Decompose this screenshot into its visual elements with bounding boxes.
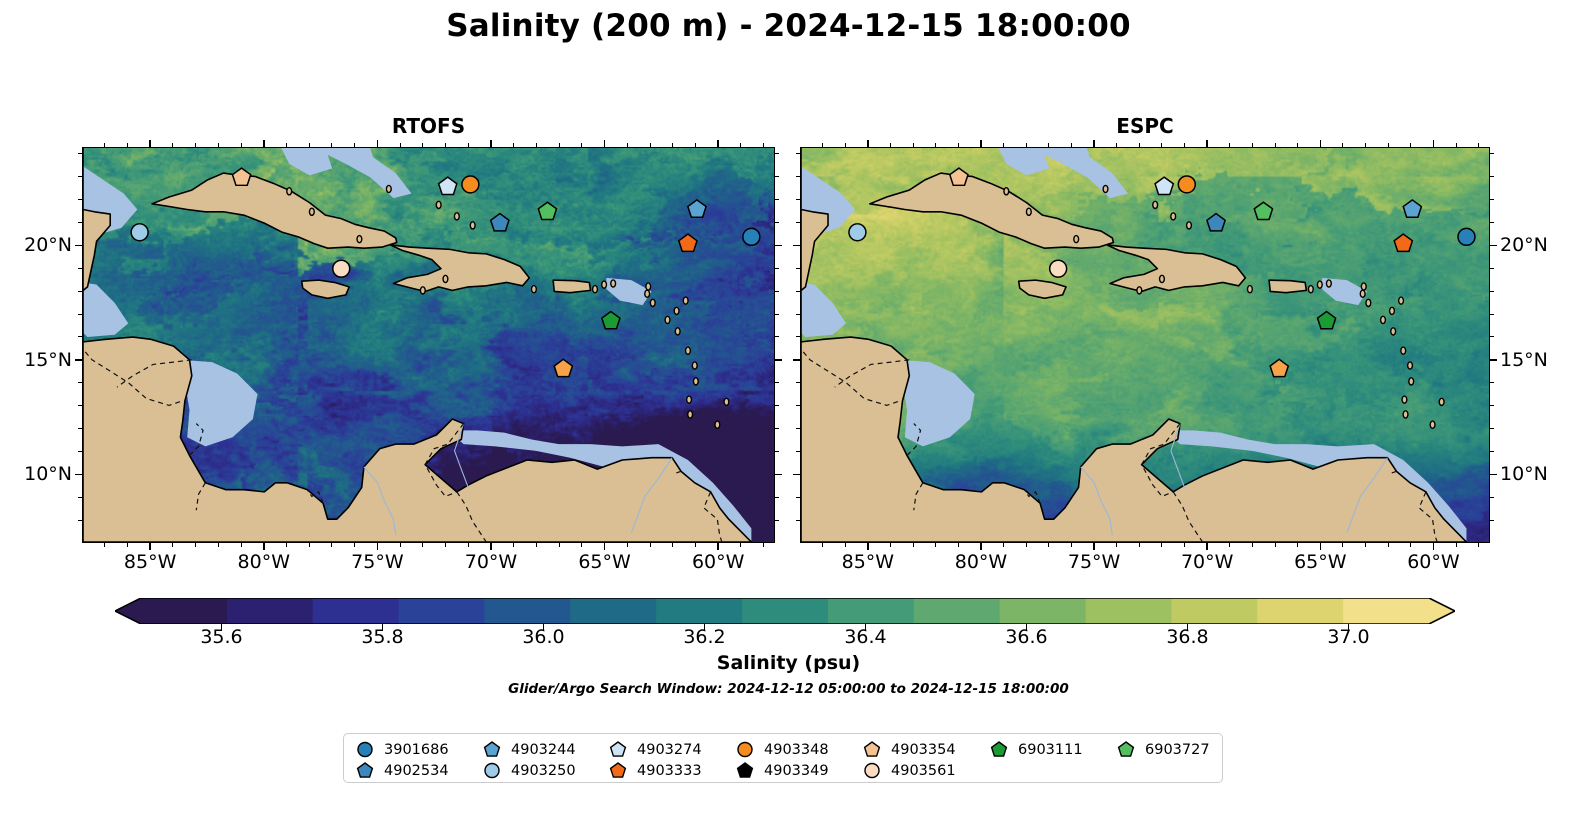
axis-tick <box>241 143 242 147</box>
colorbar-tick-label: 36.4 <box>821 626 911 648</box>
float-marker-3901686[interactable] <box>1458 228 1475 245</box>
axis-tick <box>775 222 779 223</box>
axis-tick <box>796 497 800 498</box>
legend-item-3901686[interactable]: 3901686 <box>354 739 449 760</box>
axis-tick <box>672 143 673 147</box>
axis-tick <box>867 543 869 550</box>
axis-tick <box>377 543 379 550</box>
axis-tick <box>867 140 869 147</box>
axis-tick <box>1490 153 1494 154</box>
axis-tick <box>775 245 782 247</box>
axis-tick <box>468 143 469 147</box>
axis-tick <box>1490 268 1494 269</box>
float-marker-4903250[interactable] <box>131 224 148 241</box>
axis-tick <box>775 314 779 315</box>
axis-tick <box>241 543 242 547</box>
legend-item-4903349[interactable]: 4903349 <box>734 760 829 781</box>
axis-tick <box>1048 543 1049 547</box>
map-panel-rtofs[interactable] <box>82 147 775 543</box>
legend-label: 4903250 <box>511 763 576 779</box>
axis-tick <box>1388 143 1389 147</box>
map-panel-espc[interactable] <box>800 147 1490 543</box>
axis-tick <box>958 143 959 147</box>
xtick-label: 80°W <box>219 551 309 573</box>
axis-tick <box>1093 140 1095 147</box>
xtick-label: 75°W <box>332 551 422 573</box>
axis-tick <box>354 543 355 547</box>
axis-tick <box>1365 143 1366 147</box>
axis-tick <box>775 405 779 406</box>
axis-tick <box>78 291 82 292</box>
axis-tick <box>695 543 696 547</box>
axis-tick <box>263 140 265 147</box>
axis-tick <box>1490 451 1494 452</box>
axis-tick <box>1456 543 1457 547</box>
legend-label: 6903111 <box>1018 742 1083 758</box>
axis-tick <box>695 143 696 147</box>
legend-item-4903354[interactable]: 4903354 <box>861 739 956 760</box>
axis-tick <box>1161 543 1162 547</box>
float-marker-4903561[interactable] <box>1050 260 1067 277</box>
colorbar-title: Salinity (psu) <box>0 652 1577 674</box>
float-marker-4903250[interactable] <box>849 224 866 241</box>
axis-tick <box>763 543 764 547</box>
axis-tick <box>104 143 105 147</box>
axis-tick <box>422 143 423 147</box>
axis-tick <box>1490 199 1494 200</box>
axis-tick <box>796 268 800 269</box>
xtick-label: 65°W <box>1275 551 1365 573</box>
legend-label: 4903348 <box>764 742 829 758</box>
legend-label: 4903561 <box>891 763 956 779</box>
axis-tick <box>1490 314 1494 315</box>
axis-tick <box>1026 143 1027 147</box>
float-marker-4903561[interactable] <box>333 260 350 277</box>
ytick-label-right: 10°N <box>1500 463 1570 483</box>
axis-tick <box>78 336 82 337</box>
axis-tick <box>793 245 800 247</box>
legend-marker-pentagon <box>607 760 629 781</box>
axis-tick <box>1003 543 1004 547</box>
axis-tick <box>536 543 537 547</box>
legend-label: 4903354 <box>891 742 956 758</box>
axis-tick <box>1297 543 1298 547</box>
axis-tick <box>796 314 800 315</box>
axis-tick <box>796 382 800 383</box>
axis-tick <box>604 543 606 550</box>
axis-tick <box>75 474 82 476</box>
xtick-label: 70°W <box>446 551 536 573</box>
axis-tick <box>354 143 355 147</box>
axis-tick <box>1490 336 1494 337</box>
axis-tick <box>78 382 82 383</box>
axis-tick <box>890 143 891 147</box>
colorbar[interactable] <box>115 598 1455 624</box>
axis-tick <box>104 543 105 547</box>
panel-title-rtofs: RTOFS <box>82 114 775 138</box>
axis-tick <box>309 543 310 547</box>
axis-tick <box>78 153 82 154</box>
axis-tick <box>1433 543 1435 550</box>
axis-tick <box>1206 543 1208 550</box>
axis-tick <box>1229 543 1230 547</box>
axis-tick <box>775 428 779 429</box>
axis-tick <box>1252 543 1253 547</box>
axis-tick <box>78 497 82 498</box>
axis-tick <box>78 520 82 521</box>
axis-tick <box>958 543 959 547</box>
axis-tick <box>75 245 82 247</box>
axis-tick <box>775 199 779 200</box>
axis-tick <box>796 336 800 337</box>
axis-tick <box>78 405 82 406</box>
xtick-label: 60°W <box>673 551 763 573</box>
axis-tick <box>1490 474 1497 476</box>
axis-tick <box>195 143 196 147</box>
xtick-label: 85°W <box>105 551 195 573</box>
axis-tick <box>513 543 514 547</box>
axis-tick <box>796 153 800 154</box>
axis-tick <box>775 336 779 337</box>
legend-marker-pentagon <box>607 739 629 760</box>
map-raster-espc <box>801 148 1489 542</box>
axis-tick <box>980 543 982 550</box>
axis-tick <box>490 140 492 147</box>
axis-tick <box>536 143 537 147</box>
axis-tick <box>796 291 800 292</box>
axis-tick <box>78 176 82 177</box>
axis-tick <box>935 143 936 147</box>
legend-label: 4903244 <box>511 742 576 758</box>
axis-tick <box>78 199 82 200</box>
panel-title-espc: ESPC <box>800 114 1490 138</box>
float-marker-4903348[interactable] <box>1178 176 1195 193</box>
axis-tick <box>1490 245 1497 247</box>
ytick-label-left: 15°N <box>2 349 72 369</box>
axis-tick <box>775 291 779 292</box>
legend-marker-circle <box>354 739 376 760</box>
colorbar-tick-label: 36.8 <box>1143 626 1233 648</box>
axis-tick <box>1490 428 1494 429</box>
axis-tick <box>445 543 446 547</box>
axis-tick <box>822 543 823 547</box>
colorbar-tick-label: 36.2 <box>660 626 750 648</box>
axis-tick <box>935 543 936 547</box>
axis-tick <box>845 543 846 547</box>
axis-tick <box>172 543 173 547</box>
axis-tick <box>775 153 779 154</box>
axis-tick <box>377 140 379 147</box>
figure-canvas: Salinity (200 m) - 2024-12-15 18:00:00 R… <box>0 0 1577 827</box>
axis-tick <box>775 474 782 476</box>
axis-tick <box>331 143 332 147</box>
axis-tick <box>127 543 128 547</box>
ytick-label-left: 20°N <box>2 234 72 254</box>
axis-tick <box>890 543 891 547</box>
axis-tick <box>793 359 800 361</box>
axis-tick <box>400 143 401 147</box>
xtick-label: 85°W <box>823 551 913 573</box>
axis-tick <box>1184 143 1185 147</box>
axis-tick <box>604 140 606 147</box>
legend-item-4903274[interactable]: 4903274 <box>607 739 702 760</box>
axis-tick <box>1490 291 1494 292</box>
axis-tick <box>775 520 779 521</box>
legend-item-4903244[interactable]: 4903244 <box>481 739 576 760</box>
axis-tick <box>172 143 173 147</box>
xtick-label: 80°W <box>936 551 1026 573</box>
axis-tick <box>1026 543 1027 547</box>
axis-tick <box>400 543 401 547</box>
axis-tick <box>796 451 800 452</box>
axis-tick <box>263 543 265 550</box>
colorbar-tick-label: 35.8 <box>338 626 428 648</box>
axis-tick <box>1456 143 1457 147</box>
axis-tick <box>650 543 651 547</box>
axis-tick <box>775 359 782 361</box>
axis-tick <box>490 543 492 550</box>
axis-tick <box>1490 520 1494 521</box>
axis-tick <box>149 140 151 147</box>
marker-legend[interactable]: 3901686490324449032744903348490335469031… <box>343 733 1223 783</box>
axis-tick <box>78 222 82 223</box>
axis-tick <box>627 143 628 147</box>
axis-tick <box>422 543 423 547</box>
legend-marker-pentagon <box>354 760 376 781</box>
axis-tick <box>822 143 823 147</box>
legend-label: 4903274 <box>637 742 702 758</box>
map-raster-rtofs <box>83 148 774 542</box>
axis-tick <box>581 143 582 147</box>
axis-tick <box>286 543 287 547</box>
axis-tick <box>1490 359 1497 361</box>
axis-tick <box>78 428 82 429</box>
axis-tick <box>775 268 779 269</box>
axis-tick <box>1365 543 1366 547</box>
axis-tick <box>980 140 982 147</box>
legend-marker-pentagon <box>1115 739 1137 760</box>
legend-marker-pentagon <box>988 739 1010 760</box>
axis-tick <box>775 382 779 383</box>
axis-tick <box>559 543 560 547</box>
axis-tick <box>796 520 800 521</box>
ytick-label-right: 20°N <box>1500 234 1570 254</box>
axis-tick <box>1252 143 1253 147</box>
axis-tick <box>1139 543 1140 547</box>
axis-tick <box>1490 222 1494 223</box>
axis-tick <box>1490 382 1494 383</box>
axis-tick <box>78 314 82 315</box>
xtick-label: 60°W <box>1388 551 1478 573</box>
legend-item-4903561[interactable]: 4903561 <box>861 760 956 781</box>
axis-tick <box>627 543 628 547</box>
axis-tick <box>763 143 764 147</box>
search-window-text: Glider/Argo Search Window: 2024-12-12 05… <box>0 681 1577 697</box>
axis-tick <box>1093 543 1095 550</box>
axis-tick <box>1275 543 1276 547</box>
axis-tick <box>796 222 800 223</box>
axis-tick <box>796 428 800 429</box>
axis-tick <box>672 543 673 547</box>
xtick-label: 65°W <box>560 551 650 573</box>
axis-tick <box>775 176 779 177</box>
axis-tick <box>331 543 332 547</box>
ytick-label-left: 10°N <box>2 463 72 483</box>
axis-tick <box>218 143 219 147</box>
legend-label: 3901686 <box>384 742 449 758</box>
axis-tick <box>845 143 846 147</box>
axis-tick <box>1206 140 1208 147</box>
axis-tick <box>740 543 741 547</box>
legend-item-6903727[interactable]: 6903727 <box>1115 739 1210 760</box>
axis-tick <box>1388 543 1389 547</box>
axis-tick <box>1490 176 1494 177</box>
axis-tick <box>513 143 514 147</box>
axis-tick <box>717 543 719 550</box>
float-marker-3901686[interactable] <box>743 228 760 245</box>
axis-tick <box>78 268 82 269</box>
axis-tick <box>796 199 800 200</box>
axis-tick <box>1071 143 1072 147</box>
axis-tick <box>717 140 719 147</box>
axis-tick <box>149 543 151 550</box>
axis-tick <box>775 451 779 452</box>
axis-tick <box>78 451 82 452</box>
axis-tick <box>127 143 128 147</box>
axis-tick <box>1071 543 1072 547</box>
axis-tick <box>581 543 582 547</box>
axis-tick <box>1433 140 1435 147</box>
axis-tick <box>1003 143 1004 147</box>
axis-tick <box>775 497 779 498</box>
xtick-label: 70°W <box>1162 551 1252 573</box>
axis-tick <box>1229 143 1230 147</box>
legend-label: 6903727 <box>1145 742 1210 758</box>
axis-tick <box>1116 143 1117 147</box>
axis-tick <box>1048 143 1049 147</box>
axis-tick <box>1139 143 1140 147</box>
axis-tick <box>218 543 219 547</box>
axis-tick <box>913 143 914 147</box>
axis-tick <box>650 143 651 147</box>
axis-tick <box>75 359 82 361</box>
axis-tick <box>1297 143 1298 147</box>
axis-tick <box>1478 543 1479 547</box>
legend-marker-circle <box>734 739 756 760</box>
ytick-label-right: 15°N <box>1500 349 1570 369</box>
colorbar-gradient <box>115 598 1455 624</box>
axis-tick <box>1410 543 1411 547</box>
legend-item-4902534[interactable]: 4902534 <box>354 760 449 781</box>
axis-tick <box>1275 143 1276 147</box>
axis-tick <box>1342 543 1343 547</box>
axis-tick <box>1320 543 1322 550</box>
axis-tick <box>1478 143 1479 147</box>
axis-tick <box>559 143 560 147</box>
axis-tick <box>913 543 914 547</box>
legend-marker-pentagon <box>734 760 756 781</box>
legend-label: 4903349 <box>764 763 829 779</box>
colorbar-tick-label: 35.6 <box>177 626 267 648</box>
axis-tick <box>445 143 446 147</box>
figure-title: Salinity (200 m) - 2024-12-15 18:00:00 <box>0 8 1577 44</box>
legend-marker-circle <box>861 760 883 781</box>
axis-tick <box>1410 143 1411 147</box>
axis-tick <box>1161 143 1162 147</box>
legend-item-4903250[interactable]: 4903250 <box>481 760 576 781</box>
axis-tick <box>1342 143 1343 147</box>
legend-label: 4902534 <box>384 763 449 779</box>
axis-tick <box>796 176 800 177</box>
axis-tick <box>195 543 196 547</box>
legend-marker-circle <box>481 760 503 781</box>
xtick-label: 75°W <box>1049 551 1139 573</box>
legend-marker-pentagon <box>861 739 883 760</box>
axis-tick <box>1184 543 1185 547</box>
axis-tick <box>1490 405 1494 406</box>
legend-item-4903348[interactable]: 4903348 <box>734 739 829 760</box>
legend-label: 4903333 <box>637 763 702 779</box>
axis-tick <box>309 143 310 147</box>
legend-item-4903333[interactable]: 4903333 <box>607 760 702 781</box>
axis-tick <box>1490 497 1494 498</box>
float-marker-4903348[interactable] <box>462 176 479 193</box>
axis-tick <box>1320 140 1322 147</box>
colorbar-tick-label: 36.0 <box>499 626 589 648</box>
legend-item-6903111[interactable]: 6903111 <box>988 739 1083 760</box>
axis-tick <box>286 143 287 147</box>
axis-tick <box>468 543 469 547</box>
axis-tick <box>796 405 800 406</box>
axis-tick <box>793 474 800 476</box>
legend-marker-pentagon <box>481 739 503 760</box>
colorbar-tick-label: 36.6 <box>982 626 1072 648</box>
colorbar-tick-label: 37.0 <box>1304 626 1394 648</box>
axis-tick <box>1116 543 1117 547</box>
axis-tick <box>740 143 741 147</box>
